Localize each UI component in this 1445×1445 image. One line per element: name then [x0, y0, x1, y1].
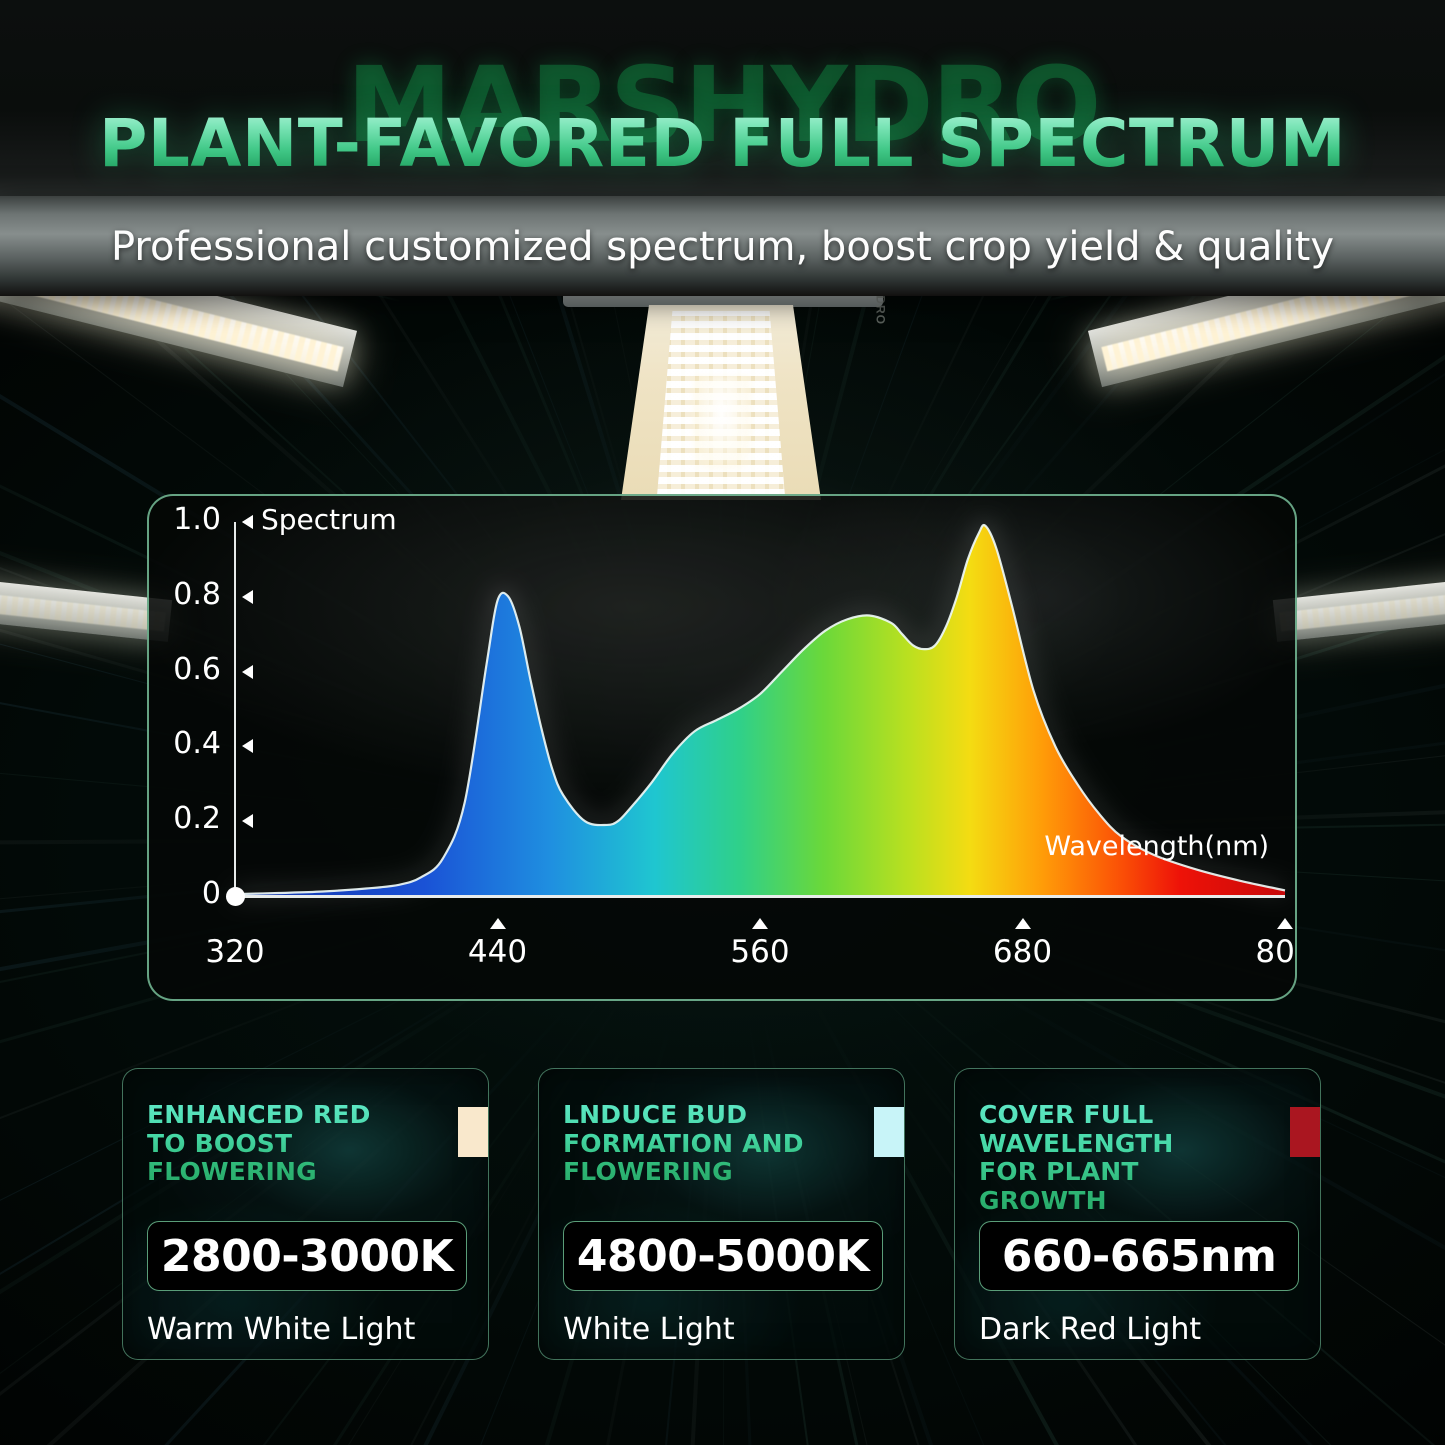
x-tick-marker-icon [490, 918, 506, 929]
center-grow-light-fixture: MARSHYDRO [545, 285, 900, 500]
card-value: 660-665nm [1002, 1231, 1277, 1282]
feature-card-warm-white[interactable]: ENHANCED RED TO BOOST FLOWERING 2800-300… [122, 1068, 489, 1360]
dark-red-swatch [1290, 1107, 1320, 1157]
origin-dot [226, 887, 245, 906]
x-axis-line [235, 895, 1285, 898]
page-subtitle: Professional customized spectrum, boost … [111, 224, 1334, 270]
card-caption: White Light [563, 1312, 735, 1347]
x-tick-label: 680 [963, 934, 1083, 970]
y-tick-marker-icon [242, 515, 253, 529]
card-caption: Warm White Light [147, 1312, 415, 1347]
y-axis-line [234, 522, 236, 896]
y-tick-marker-icon [242, 739, 253, 753]
x-tick-label: 320 [175, 934, 295, 970]
warm-white-swatch [458, 1107, 488, 1157]
card-heading: ENHANCED RED TO BOOST FLOWERING [147, 1101, 397, 1187]
spectrum-chart-panel: Spectrum Wavelength(nm) 1.00.80.60.40.20… [147, 494, 1297, 1001]
y-tick-label: 0.6 [149, 652, 221, 687]
spectrum-chart: Spectrum Wavelength(nm) 1.00.80.60.40.20… [149, 496, 1295, 999]
y-tick-label: 1.0 [149, 502, 221, 537]
card-value: 2800-3000K [161, 1231, 453, 1282]
x-tick-label: 800 [1225, 934, 1297, 970]
y-tick-label: 0.8 [149, 577, 221, 612]
feature-card-dark-red[interactable]: COVER FULL WAVELENGTH FOR PLANT GROWTH 6… [954, 1068, 1321, 1360]
card-heading: COVER FULL WAVELENGTH FOR PLANT GROWTH [979, 1101, 1229, 1215]
card-value-box: 660-665nm [979, 1221, 1299, 1291]
cool-white-swatch [874, 1107, 904, 1157]
x-tick-marker-icon [752, 918, 768, 929]
spectrum-curve-svg [149, 496, 1295, 999]
spectrum-infographic: MARSHYDRO MARSHYDRO PLANT-FAVORED FULL S… [0, 0, 1445, 1445]
y-tick-marker-icon [242, 665, 253, 679]
y-tick-marker-icon [242, 590, 253, 604]
x-tick-marker-icon [1277, 918, 1293, 929]
card-value-box: 4800-5000K [563, 1221, 883, 1291]
card-value-box: 2800-3000K [147, 1221, 467, 1291]
x-axis-title: Wavelength(nm) [1044, 831, 1269, 862]
x-tick-label: 560 [700, 934, 820, 970]
card-heading: LNDUCE BUD FORMATION AND FLOWERING [563, 1101, 813, 1187]
y-axis-title: Spectrum [261, 503, 397, 536]
x-tick-marker-icon [1015, 918, 1031, 929]
y-tick-label: 0 [149, 876, 221, 911]
card-value: 4800-5000K [577, 1231, 869, 1282]
feature-card-white[interactable]: LNDUCE BUD FORMATION AND FLOWERING 4800-… [538, 1068, 905, 1360]
y-tick-label: 0.2 [149, 801, 221, 836]
y-tick-marker-icon [242, 814, 253, 828]
fixture-hotspot-glow [693, 375, 751, 470]
feature-card-row: ENHANCED RED TO BOOST FLOWERING 2800-300… [0, 1068, 1445, 1368]
x-tick-label: 440 [438, 934, 558, 970]
y-tick-label: 0.4 [149, 726, 221, 761]
page-title: PLANT-FAVORED FULL SPECTRUM [99, 105, 1346, 182]
card-caption: Dark Red Light [979, 1312, 1201, 1347]
